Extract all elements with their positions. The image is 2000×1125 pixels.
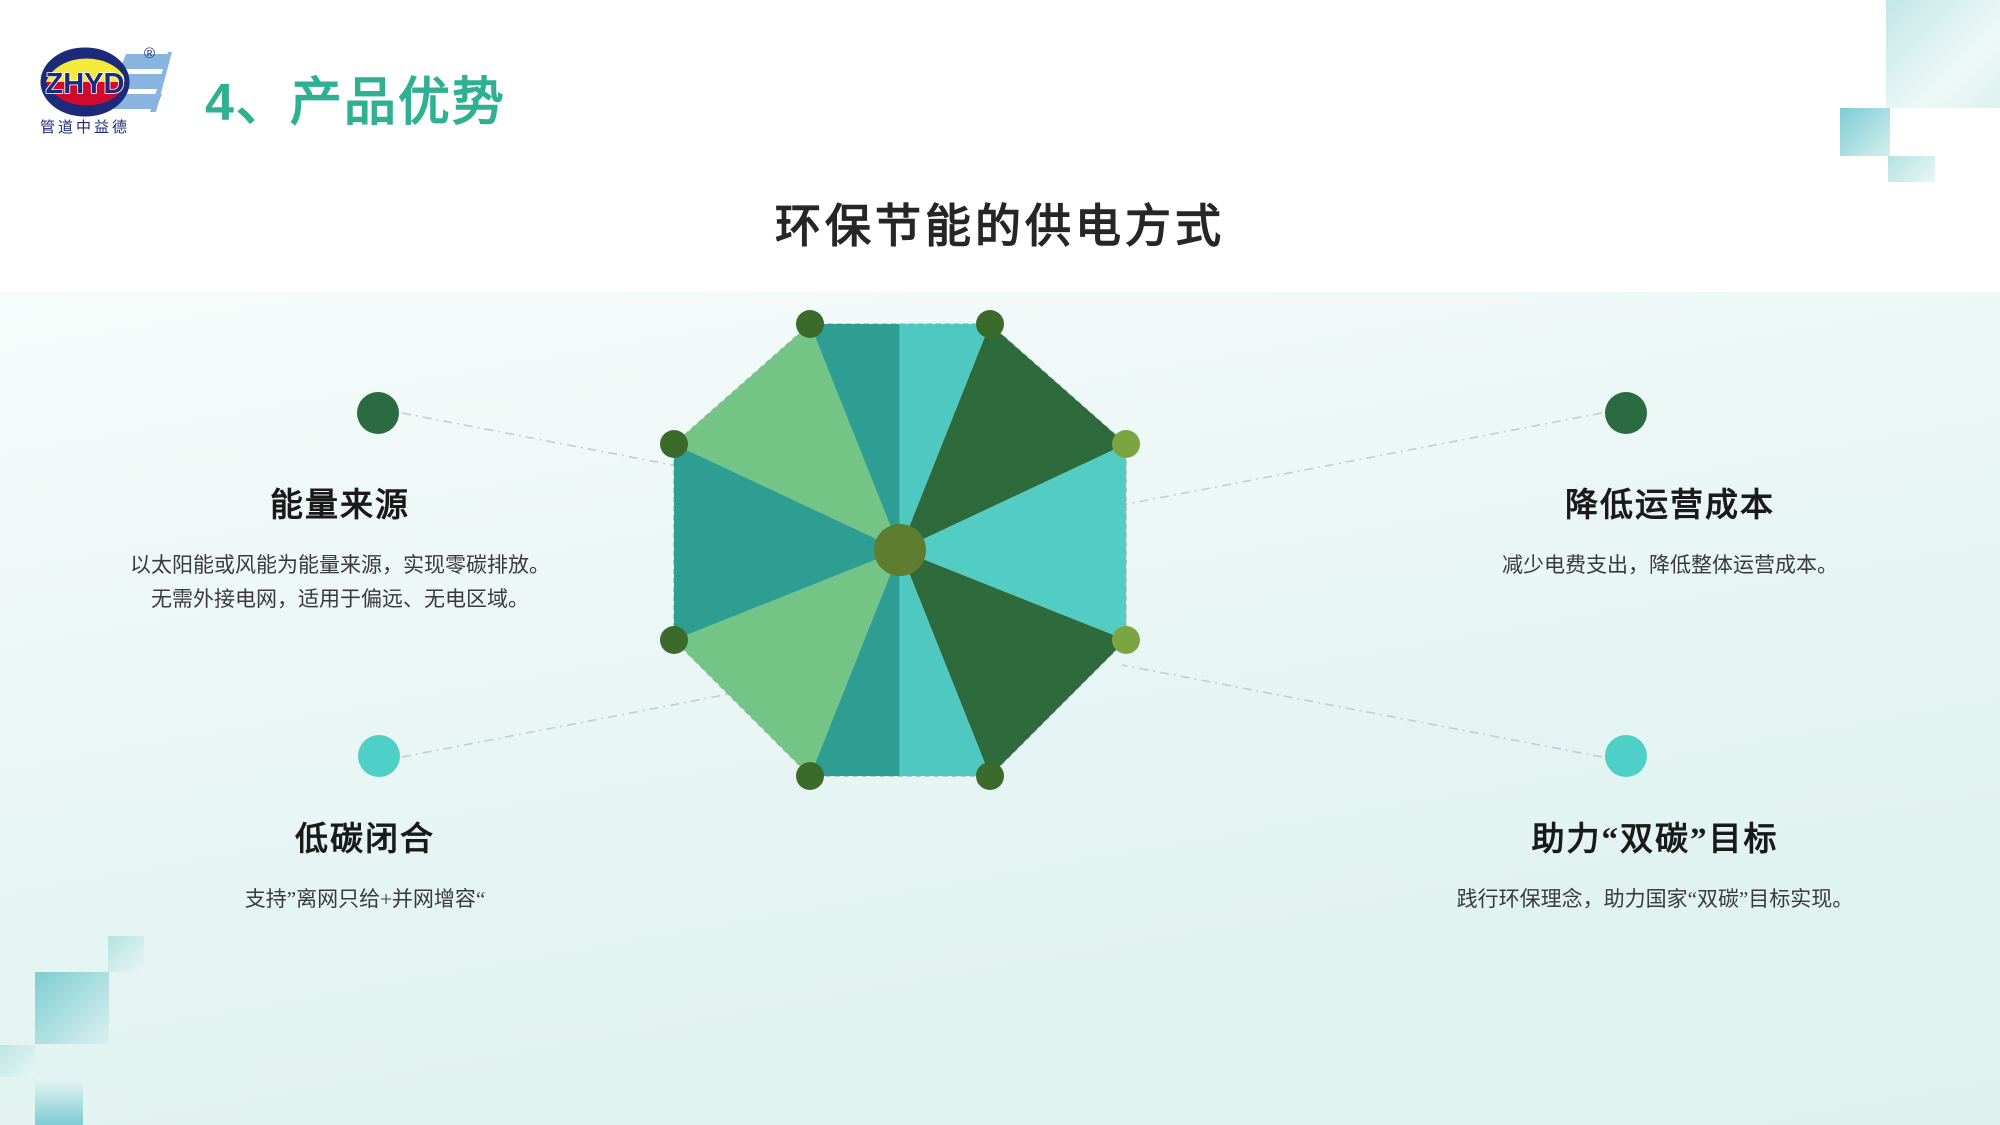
- node-dot-energy[interactable]: [357, 392, 399, 434]
- callout-cost-body: 减少电费支出，降低整体运营成本。: [1455, 548, 1885, 582]
- node-dot-carbon[interactable]: [358, 735, 400, 777]
- callout-energy: 能量来源 以太阳能或风能为能量来源，实现零碳排放。无需外接电网，适用于偏远、无电…: [125, 478, 555, 616]
- node-dot-cost[interactable]: [1605, 392, 1647, 434]
- callout-energy-heading: 能量来源: [125, 478, 555, 526]
- decor-square-top-right-mid: [1840, 108, 1890, 156]
- callout-cost: 降低运营成本 减少电费支出，降低整体运营成本。: [1455, 478, 1885, 582]
- callout-carbon: 低碳闭合 支持”离网只给+并网增容“: [150, 812, 580, 916]
- callout-carbon-heading: 低碳闭合: [150, 812, 580, 860]
- registered-mark-icon: ®: [144, 45, 155, 62]
- logo-wordmark: ZHYD: [46, 68, 125, 100]
- decor-square-top-right-large: [1886, 0, 2000, 108]
- slide-canvas: ZHYD ® 管道中益德 4、产品优势 环保节能的供电方式: [0, 0, 2000, 1125]
- callout-cost-heading: 降低运营成本: [1455, 478, 1885, 526]
- logo-subtext: 管道中益德: [40, 118, 130, 136]
- callout-goal: 助力“双碳”目标 践行环保理念，助力国家“双碳”目标实现。: [1440, 812, 1870, 916]
- section-heading: 4、产品优势: [205, 60, 506, 135]
- callout-carbon-body: 支持”离网只给+并网增容“: [150, 882, 580, 916]
- decor-square-bottom-left-large: [35, 972, 109, 1044]
- decor-square-bottom-left-edge: [0, 1045, 35, 1077]
- pinwheel-diagram: [660, 310, 1140, 830]
- logo-icon: ZHYD ® 管道中益德: [36, 36, 196, 140]
- node-dot-goal[interactable]: [1605, 735, 1647, 777]
- decor-square-top-right-small: [1888, 156, 1935, 182]
- callout-goal-body: 践行环保理念，助力国家“双碳”目标实现。: [1440, 882, 1870, 916]
- decor-square-bottom-left-top: [108, 936, 144, 972]
- company-logo: ZHYD ® 管道中益德: [36, 36, 196, 140]
- page-title: 环保节能的供电方式: [0, 190, 2000, 256]
- decor-square-bottom-left-bottom: [35, 1080, 83, 1125]
- callout-energy-body: 以太阳能或风能为能量来源，实现零碳排放。无需外接电网，适用于偏远、无电区域。: [125, 548, 555, 616]
- callout-goal-heading: 助力“双碳”目标: [1440, 812, 1870, 860]
- pinwheel-center-hub: [874, 524, 926, 576]
